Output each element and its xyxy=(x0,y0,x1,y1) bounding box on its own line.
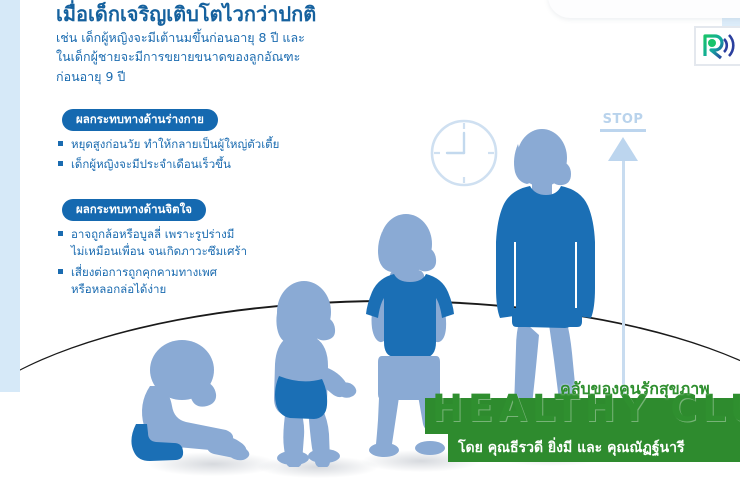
stop-label: STOP xyxy=(592,112,654,127)
figure-toddler-standing xyxy=(262,272,372,471)
stop-rule xyxy=(600,129,646,132)
bullet-line: ไม่เหมือนเพื่อน จนเกิดภาวะซึมเศร้า xyxy=(71,243,308,260)
bullet-line: อาจถูกล้อหรือบูลลี่ เพราะรูปร่างมี xyxy=(71,226,308,243)
arrow-stem xyxy=(622,161,625,411)
section-physical-badge: ผลกระทบทางด้านร่างกาย xyxy=(62,109,218,131)
section-mental-badge: ผลกระทบทางด้านจิตใจ xyxy=(62,199,206,221)
subtitle-line-1: เช่น เด็กผู้หญิงจะมีเต้านมขึ้นก่อนอายุ 8… xyxy=(56,28,416,47)
club-thai-tagline: คลับของคนรักสุขภาพ xyxy=(560,377,710,402)
list-item: เด็กผู้หญิงจะมีประจำเดือนเร็วขึ้น xyxy=(58,156,358,173)
page-title: เมื่อเด็กเจริญเติบโตไวกว่าปกติ xyxy=(56,2,476,27)
clock-icon xyxy=(429,118,499,188)
growth-stop-marker: STOP xyxy=(592,112,654,411)
page-subtitle: เช่น เด็กผู้หญิงจะมีเต้านมขึ้นก่อนอายุ 8… xyxy=(56,28,416,86)
up-arrow-icon xyxy=(608,137,638,161)
list-item: อาจถูกล้อหรือบูลลี่ เพราะรูปร่างมี ไม่เห… xyxy=(58,226,308,261)
subtitle-line-2: ในเด็กผู้ชายจะมีการขยายขนาดของลูกอัณฑะ xyxy=(56,47,416,66)
infographic-canvas: เมื่อเด็กเจริญเติบโตไวกว่าปกติ เช่น เด็ก… xyxy=(0,0,740,500)
figure-baby-crawling xyxy=(130,338,280,467)
bullet-line: เด็กผู้หญิงจะมีประจำเดือนเร็วขึ้น xyxy=(71,156,358,173)
section-physical-bullets: หยุดสูงก่อนวัย ทำให้กลายเป็นผู้ใหญ่ตัวเต… xyxy=(58,136,358,177)
section-physical-badge-wrap: ผลกระทบทางด้านร่างกาย xyxy=(62,108,218,131)
broadcast-logo-icon xyxy=(694,26,740,66)
byline-text: โดย คุณธีรวดี ยิ่งมี และ คุณณัฏฐ์นารี xyxy=(458,437,685,459)
section-mental-badge-wrap: ผลกระทบทางด้านจิตใจ xyxy=(62,198,206,221)
list-item: หยุดสูงก่อนวัย ทำให้กลายเป็นผู้ใหญ่ตัวเต… xyxy=(58,136,358,153)
subtitle-line-3: ก่อนอายุ 9 ปี xyxy=(56,67,416,86)
bullet-line: หยุดสูงก่อนวัย ทำให้กลายเป็นผู้ใหญ่ตัวเต… xyxy=(71,136,358,153)
